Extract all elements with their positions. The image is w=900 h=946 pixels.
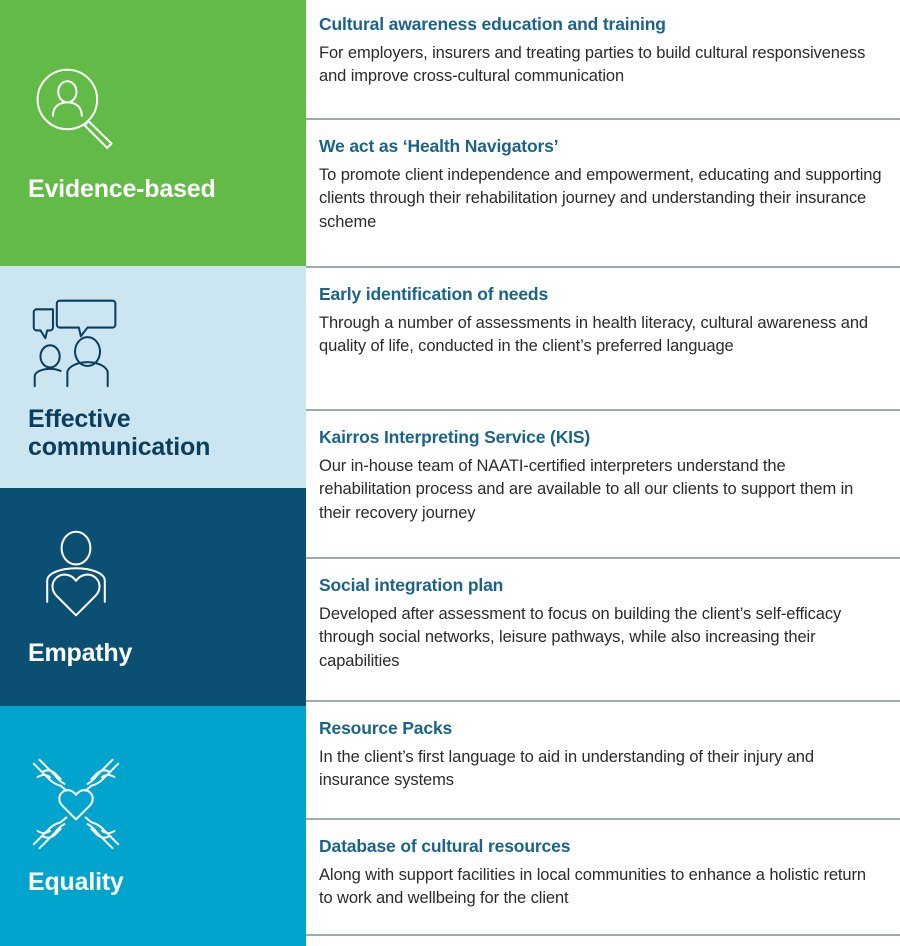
pillar-effective-communication: Effective communication xyxy=(0,266,303,488)
row-body: Our in-house team of NAATI-certified int… xyxy=(319,455,882,525)
row-body: For employers, insurers and treating par… xyxy=(319,42,882,89)
row-divider xyxy=(303,409,900,411)
row-divider xyxy=(303,557,900,559)
row-heading: Kairros Interpreting Service (KIS) xyxy=(319,427,882,448)
row-body: Developed after assessment to focus on b… xyxy=(319,603,882,673)
row-body: Along with support facilities in local c… xyxy=(319,864,882,911)
pillar-equality: Equality xyxy=(0,706,303,946)
person-heart-icon xyxy=(28,527,124,623)
pillar-label: Evidence-based xyxy=(28,175,268,203)
row-body: In the client’s first language to aid in… xyxy=(319,746,882,793)
edge-accent-light-blue xyxy=(303,266,306,488)
edge-accent-green xyxy=(303,0,306,266)
edge-accent-navy xyxy=(303,488,306,706)
magnifier-person-icon xyxy=(28,63,124,159)
pillar-label: Equality xyxy=(28,868,268,896)
row-heading: Database of cultural resources xyxy=(319,836,882,857)
row-divider xyxy=(303,266,900,268)
content-row-health-navigators: We act as ‘Health Navigators’ To promote… xyxy=(303,136,900,234)
row-body: To promote client independence and empow… xyxy=(319,164,882,234)
row-heading: Resource Packs xyxy=(319,718,882,739)
pillar-empathy: Empathy xyxy=(0,488,303,706)
content-row-early-identification: Early identification of needs Through a … xyxy=(303,284,900,359)
pillar-evidence-based: Evidence-based xyxy=(0,0,303,266)
content-row-cultural-awareness: Cultural awareness education and trainin… xyxy=(303,14,900,89)
infographic-root: Evidence-based Effective communication E… xyxy=(0,0,900,946)
edge-accent-cyan xyxy=(303,706,306,946)
row-divider xyxy=(303,700,900,702)
row-heading: We act as ‘Health Navigators’ xyxy=(319,136,882,157)
row-heading: Cultural awareness education and trainin… xyxy=(319,14,882,35)
row-divider xyxy=(303,818,900,820)
row-heading: Social integration plan xyxy=(319,575,882,596)
crossed-hands-heart-icon xyxy=(28,756,124,852)
pillar-label: Effective communication xyxy=(28,405,268,461)
row-divider xyxy=(303,934,900,936)
content-row-database-cultural-resources: Database of cultural resources Along wit… xyxy=(303,836,900,911)
content-row-resource-packs: Resource Packs In the client’s first lan… xyxy=(303,718,900,793)
content-row-kairros-interpreting: Kairros Interpreting Service (KIS) Our i… xyxy=(303,427,900,525)
content-column: Cultural awareness education and trainin… xyxy=(303,0,900,946)
content-row-social-integration: Social integration plan Developed after … xyxy=(303,575,900,673)
row-divider xyxy=(303,118,900,120)
row-heading: Early identification of needs xyxy=(319,284,882,305)
pillar-label: Empathy xyxy=(28,639,268,667)
speech-bubbles-people-icon xyxy=(28,293,124,389)
row-body: Through a number of assessments in healt… xyxy=(319,312,882,359)
